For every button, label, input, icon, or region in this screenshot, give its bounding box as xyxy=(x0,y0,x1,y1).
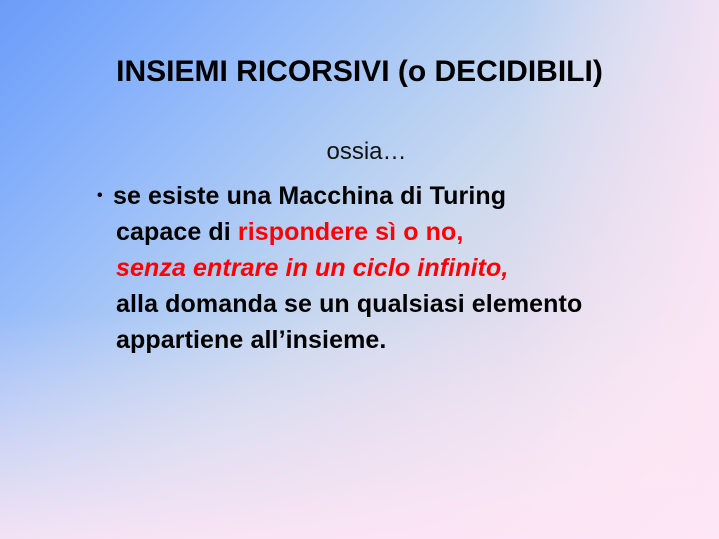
slide-subtitle: ossia… xyxy=(0,138,719,166)
slide-title: INSIEMI RICORSIVI (o DECIDIBILI) xyxy=(0,55,719,89)
bullet-line-3-text-red-italic: senza entrare in un ciclo infinito, xyxy=(116,254,508,282)
body-bullet-list: •se esiste una Macchina di Turing capace… xyxy=(97,178,697,358)
bullet-line-5: appartiene all’insieme. xyxy=(97,322,697,358)
bullet-line-4: alla domanda se un qualsiasi elemento xyxy=(97,286,697,322)
bullet-line-1-text: se esiste una Macchina di Turing xyxy=(113,182,506,210)
slide-content: INSIEMI RICORSIVI (o DECIDIBILI) ossia… … xyxy=(0,0,719,539)
bullet-line-1: •se esiste una Macchina di Turing xyxy=(97,178,697,214)
bullet-dot-icon: • xyxy=(97,178,113,214)
slide-canvas: INSIEMI RICORSIVI (o DECIDIBILI) ossia… … xyxy=(0,0,719,539)
bullet-line-4-text: alla domanda se un qualsiasi elemento xyxy=(116,290,582,318)
bullet-line-3: senza entrare in un ciclo infinito, xyxy=(97,250,697,286)
bullet-line-2-text-black: capace di xyxy=(116,218,238,246)
bullet-line-2-text-red: rispondere sì o no, xyxy=(238,218,464,246)
bullet-line-5-text: appartiene all’insieme. xyxy=(116,326,386,354)
bullet-line-2: capace di rispondere sì o no, xyxy=(97,214,697,250)
